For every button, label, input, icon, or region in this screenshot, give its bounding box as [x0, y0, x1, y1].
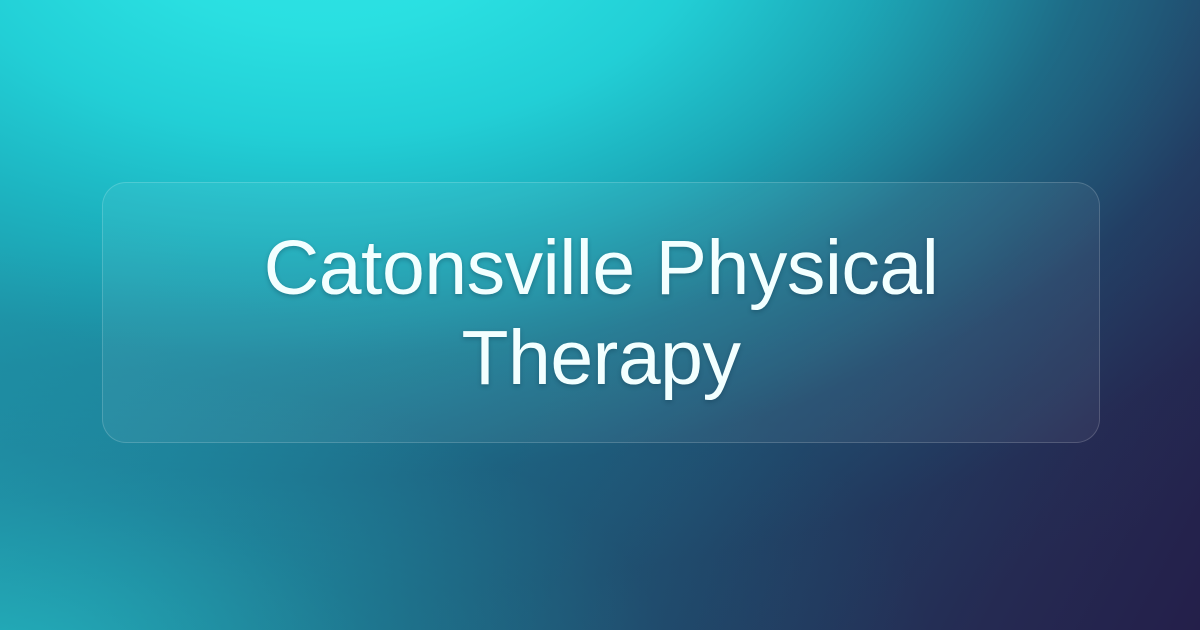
banner-canvas: Catonsville Physical Therapy: [0, 0, 1200, 630]
page-title: Catonsville Physical Therapy: [149, 223, 1053, 403]
title-card: Catonsville Physical Therapy: [102, 182, 1100, 443]
